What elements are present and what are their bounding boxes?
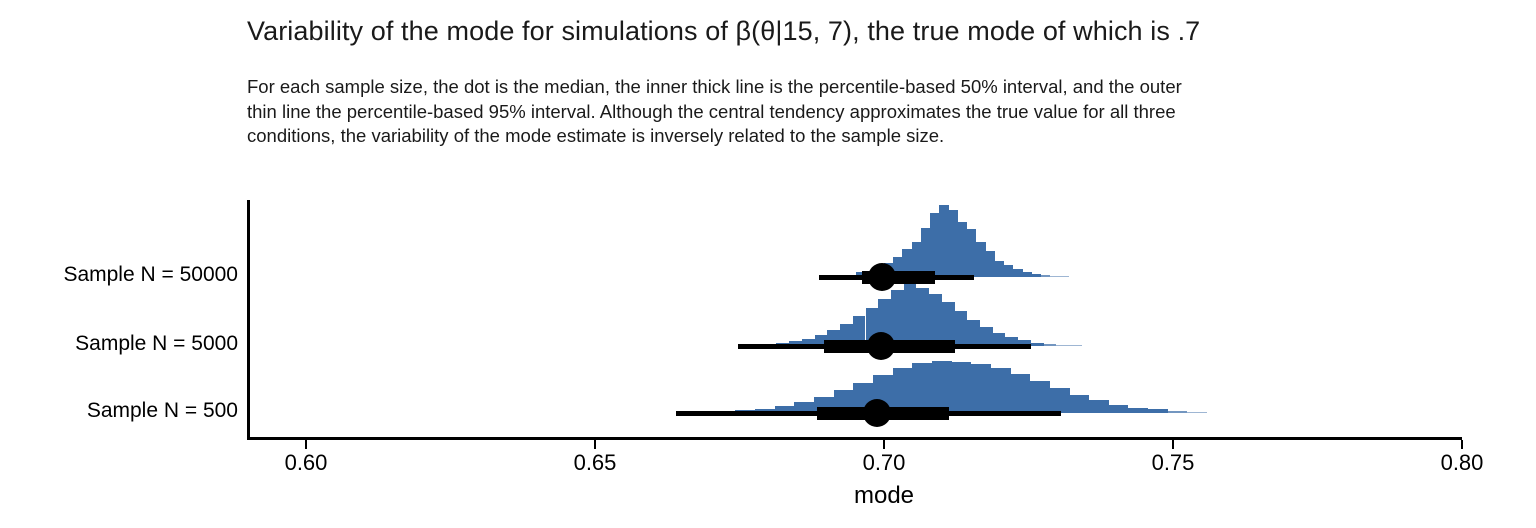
- histogram-bar: [939, 205, 948, 277]
- median-dot: [867, 332, 895, 360]
- histogram-bar: [1041, 275, 1050, 277]
- x-axis-tick: [305, 440, 307, 449]
- x-axis-tick-label: 0.65: [574, 450, 617, 476]
- median-dot: [868, 263, 896, 291]
- histogram-bar: [1187, 412, 1207, 414]
- histogram-bar: [971, 364, 991, 413]
- histogram-bar: [1032, 274, 1041, 277]
- histogram-bar: [929, 294, 942, 346]
- x-axis-tick-label: 0.80: [1441, 450, 1484, 476]
- histogram-bar: [921, 228, 930, 277]
- histogram-bar: [916, 288, 929, 346]
- histogram-bar: [1109, 405, 1129, 413]
- histogram-bar: [1056, 345, 1069, 347]
- histogram-bar: [995, 261, 1004, 277]
- y-axis-tick-label: Sample N = 5000: [75, 332, 238, 356]
- histogram-bar: [930, 213, 939, 277]
- x-axis-tick-label: 0.70: [863, 450, 906, 476]
- histogram-bar: [991, 368, 1011, 413]
- histogram-bar: [967, 320, 980, 346]
- histogram-bar: [1148, 409, 1168, 413]
- histogram-bar: [1128, 408, 1148, 413]
- histogram-bar: [1089, 400, 1109, 413]
- median-dot: [863, 399, 891, 427]
- x-axis-tick: [1461, 440, 1463, 449]
- histogram-bar: [1031, 343, 1044, 346]
- x-axis-tick: [883, 440, 885, 449]
- histogram-bar: [952, 362, 972, 413]
- histogram-bar: [1060, 276, 1069, 278]
- histogram-bar: [1011, 374, 1031, 413]
- histogram-bar: [904, 284, 917, 346]
- histogram-bar: [1044, 344, 1057, 346]
- histogram-bar: [932, 361, 952, 413]
- histogram-bar: [1013, 269, 1022, 277]
- histogram-bar: [949, 210, 958, 277]
- histogram-bar: [976, 242, 985, 277]
- histogram-bar: [912, 363, 932, 413]
- plot-area: 0.600.650.700.750.80Sample N = 50000Samp…: [0, 0, 1536, 528]
- x-axis-tick: [594, 440, 596, 449]
- y-axis-spine: [247, 200, 250, 438]
- histogram-bar: [1030, 381, 1050, 413]
- histogram-bar: [1050, 388, 1070, 413]
- y-axis-tick-label: Sample N = 500: [87, 399, 238, 423]
- chart-figure: Variability of the mode for simulations …: [0, 0, 1536, 528]
- histogram-bar: [1070, 395, 1090, 413]
- x-axis-tick: [1172, 440, 1174, 449]
- histogram-bar: [1050, 276, 1059, 278]
- x-axis-label: mode: [854, 482, 914, 510]
- x-axis-spine: [247, 437, 1462, 440]
- x-axis-tick-label: 0.60: [285, 450, 328, 476]
- histogram-bar: [967, 229, 976, 277]
- histogram-bar: [986, 251, 995, 277]
- histogram-bar: [955, 311, 968, 346]
- y-axis-tick-label: Sample N = 50000: [63, 263, 238, 287]
- histogram-bar: [1004, 265, 1013, 277]
- histogram-bar: [1168, 411, 1188, 413]
- x-axis-tick-label: 0.75: [1152, 450, 1195, 476]
- histogram-bar: [1023, 272, 1032, 277]
- histogram-bar: [958, 222, 967, 277]
- histogram-bar: [1069, 345, 1082, 347]
